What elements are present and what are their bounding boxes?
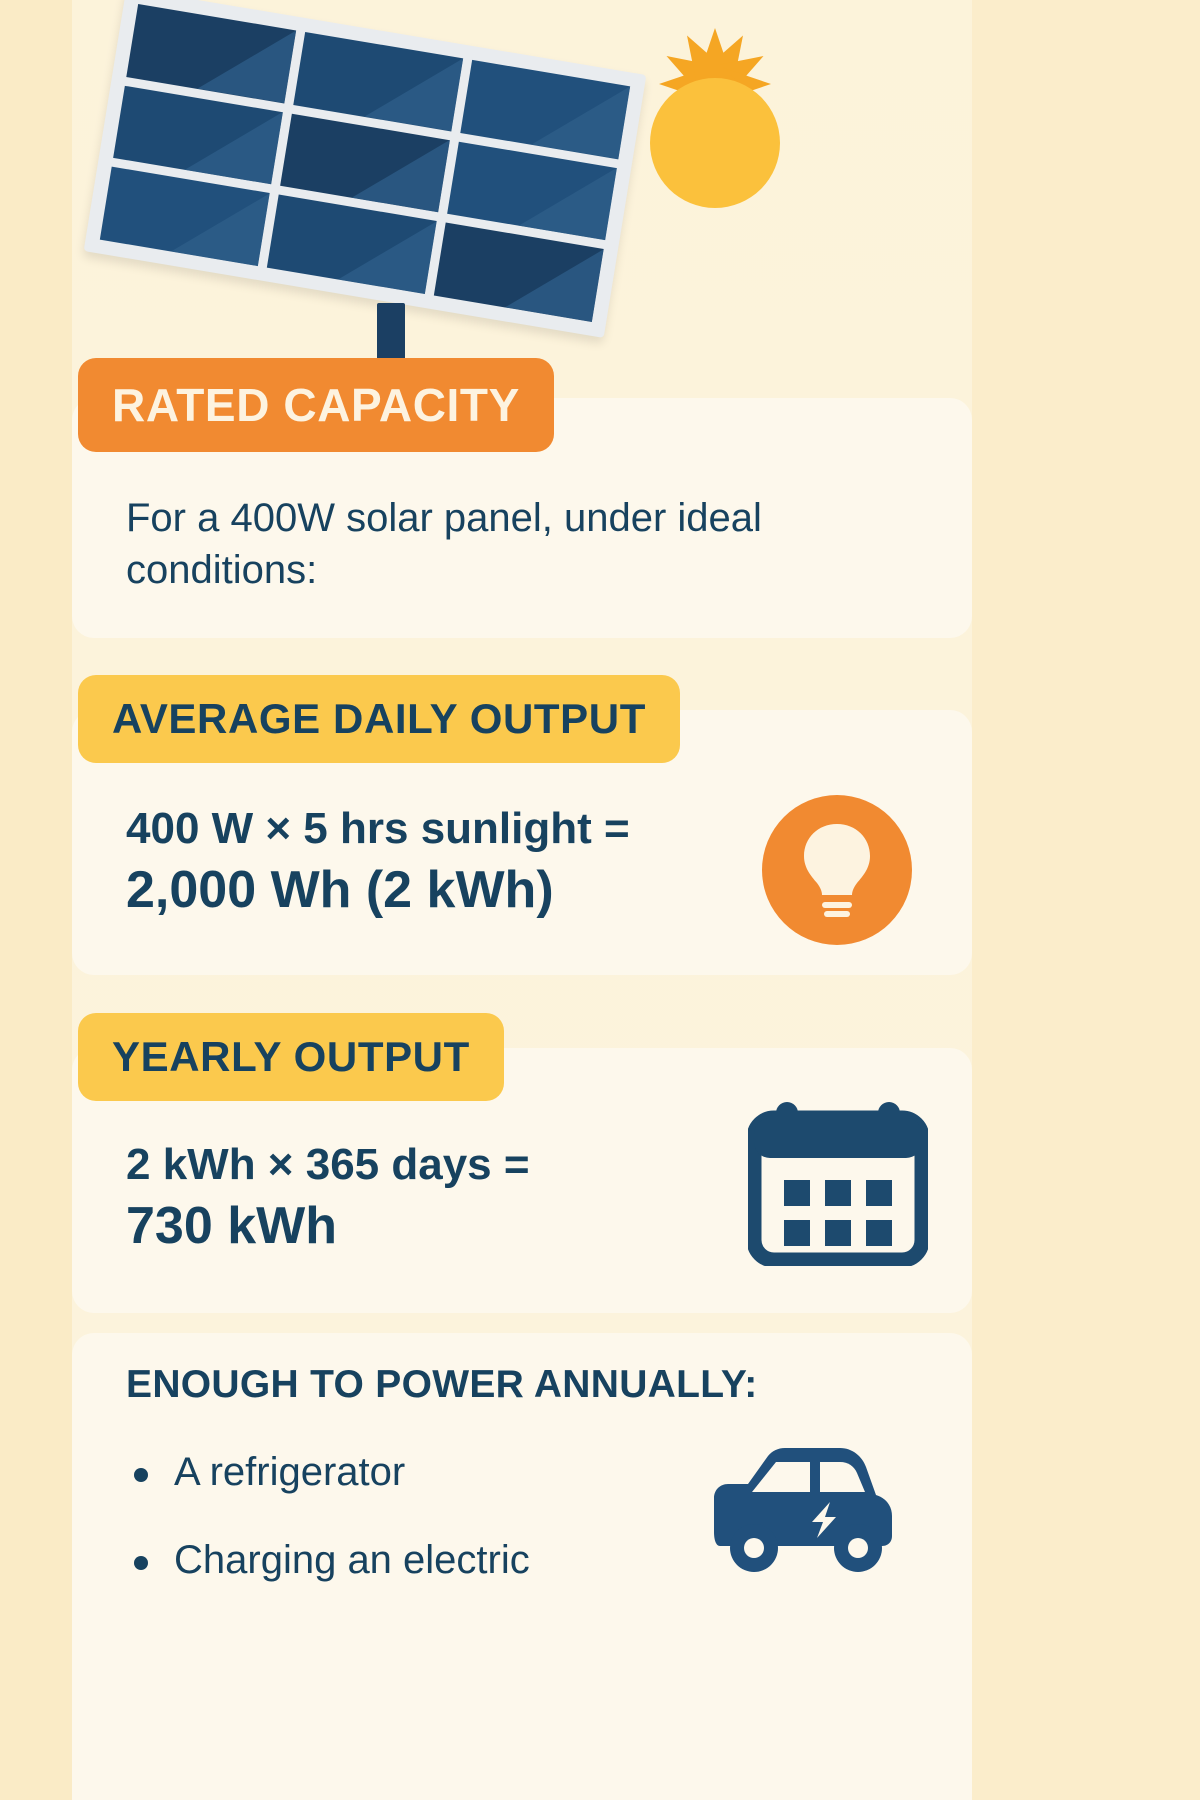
yearly-output-formula-line2: 730 kWh: [126, 1193, 746, 1261]
average-daily-output-formula-line2: 2,000 Wh (2 kWh): [126, 857, 766, 925]
solar-cell: [460, 60, 630, 159]
header-rated-capacity: RATED CAPACITY: [78, 358, 554, 452]
solar-cell: [100, 167, 270, 266]
solar-cell: [126, 4, 296, 103]
header-yearly-output: YEARLY OUTPUT: [78, 1013, 504, 1101]
header-rated-capacity-label: RATED CAPACITY: [112, 378, 520, 432]
average-daily-output-formula-line1: 400 W × 5 hrs sunlight =: [126, 804, 630, 853]
solar-cell: [293, 32, 463, 131]
yearly-output-formula: 2 kWh × 365 days = 730 kWh: [126, 1136, 746, 1261]
calendar-icon: [748, 1098, 928, 1266]
average-daily-output-formula: 400 W × 5 hrs sunlight = 2,000 Wh (2 kWh…: [126, 800, 766, 925]
header-average-daily-output-label: AVERAGE DAILY OUTPUT: [112, 695, 646, 743]
solar-panel-frame: [84, 0, 647, 338]
solar-cell: [434, 223, 604, 322]
solar-panel-icon: [105, 28, 665, 328]
solar-cell: [113, 85, 283, 184]
sun-core: [650, 78, 780, 208]
electric-car-icon: [690, 1440, 900, 1580]
header-average-daily-output: AVERAGE DAILY OUTPUT: [78, 675, 680, 763]
enough-to-power-list: A refrigerator Charging an electric: [126, 1448, 686, 1624]
rated-capacity-body: For a 400W solar panel, under ideal cond…: [126, 492, 886, 596]
solar-panel-grid: [100, 4, 630, 322]
list-item: A refrigerator: [126, 1448, 686, 1496]
lightbulb-icon: [762, 795, 912, 945]
yearly-output-formula-line1: 2 kWh × 365 days =: [126, 1140, 530, 1189]
header-yearly-output-label: YEARLY OUTPUT: [112, 1033, 470, 1081]
solar-cell: [267, 195, 437, 294]
solar-cell: [447, 141, 617, 240]
hero-illustration: [0, 0, 1200, 380]
infographic-page: RATED CAPACITY For a 400W solar panel, u…: [0, 0, 1200, 1800]
solar-cell: [280, 113, 450, 212]
list-item: Charging an electric: [126, 1536, 686, 1584]
enough-to-power-title: ENOUGH TO POWER ANNUALLY:: [126, 1363, 758, 1407]
